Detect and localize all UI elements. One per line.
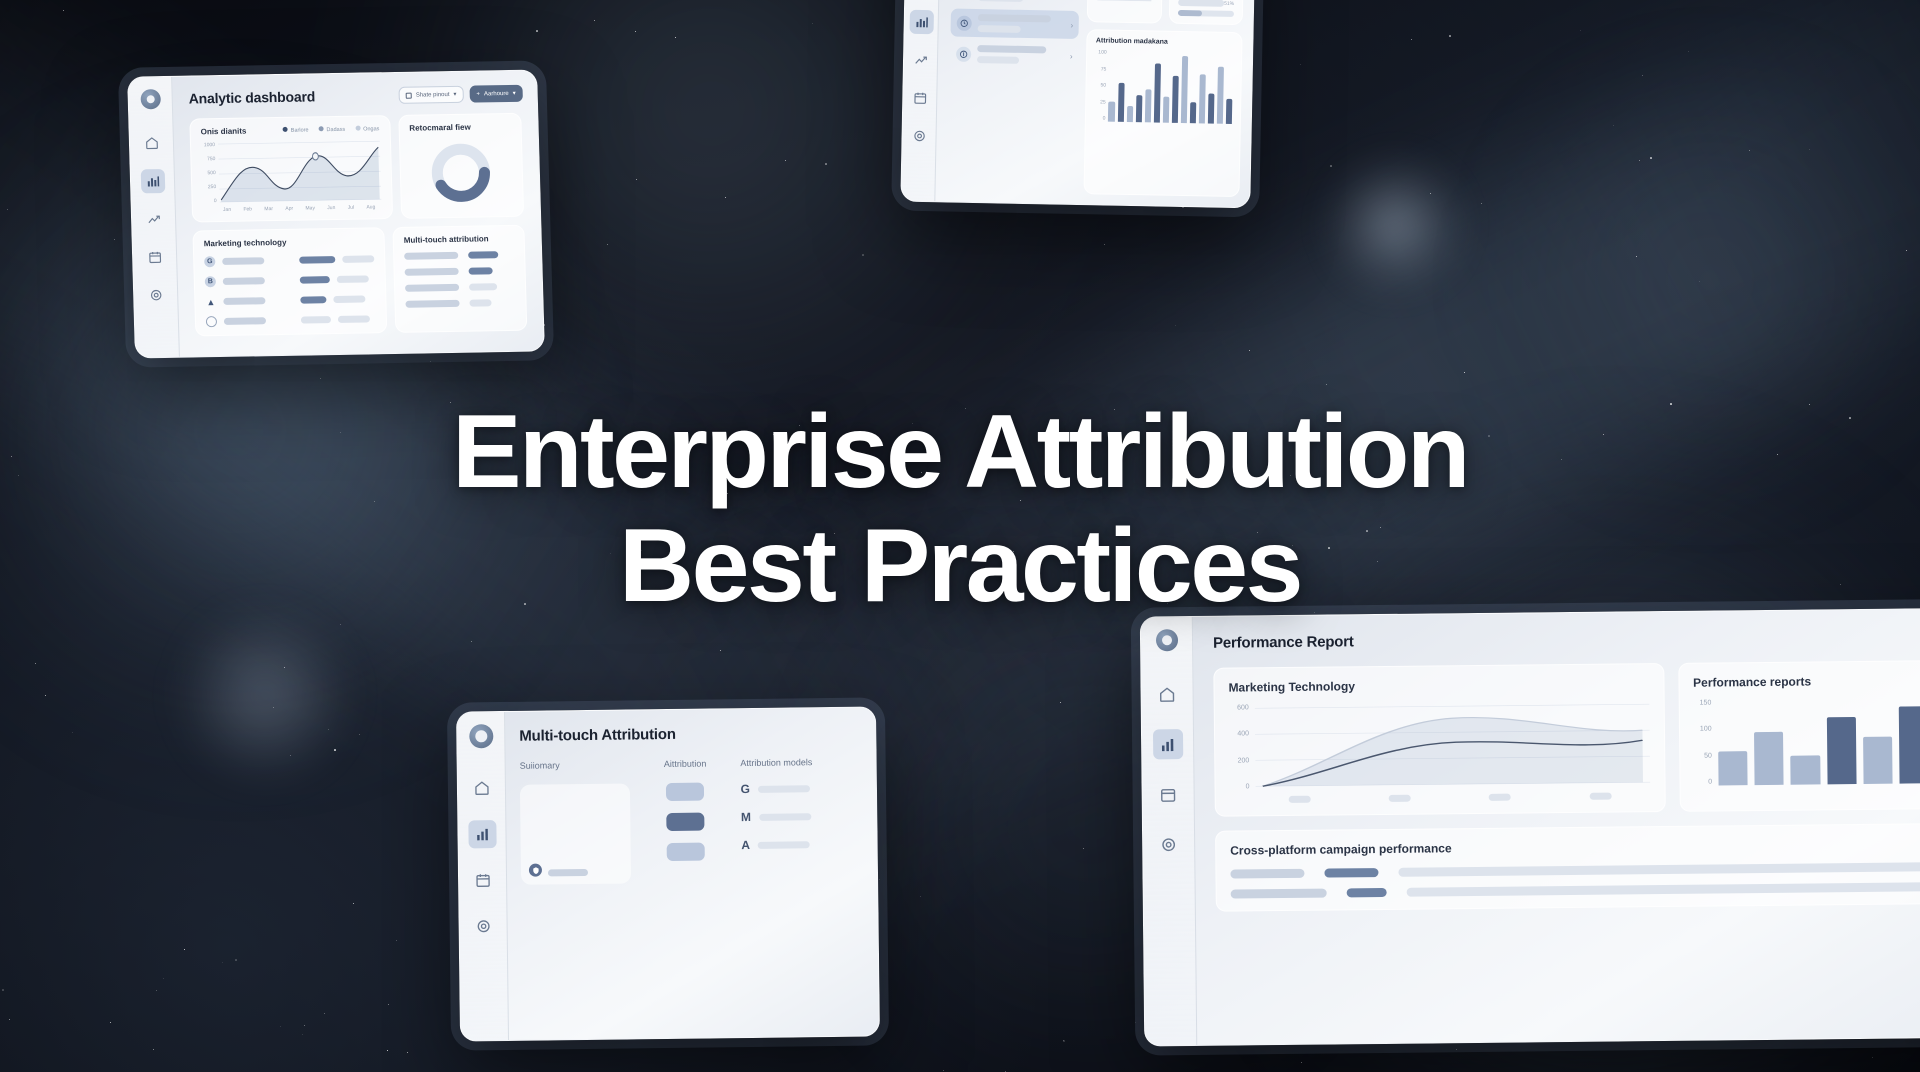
hero-heading: Enterprise Attribution Best Practices	[0, 395, 1920, 624]
gear-icon[interactable]	[469, 912, 497, 940]
add-button-label: Aarhoure	[484, 90, 509, 96]
bar-chart-icon[interactable]	[468, 820, 496, 848]
panel-title: Performance reports	[1693, 673, 1920, 690]
plus-icon: +	[476, 91, 480, 97]
line-chart	[1097, 0, 1154, 1]
bar	[1108, 102, 1114, 122]
google-icon: G	[204, 256, 215, 267]
legend-item: Dadass	[318, 126, 345, 133]
microsoft-icon: M	[741, 810, 751, 824]
list-item[interactable]: ›	[950, 40, 1079, 70]
bar	[1899, 706, 1920, 784]
galaxy-glow	[170, 610, 360, 780]
bar-chart-icon[interactable]	[909, 10, 933, 34]
page-title: Performance Report	[1213, 627, 1920, 652]
adobe-icon: ▲	[205, 296, 216, 307]
panel-title: Marketing Technology	[1228, 676, 1649, 694]
chevron-down-icon: ▾	[513, 90, 516, 97]
adobe-icon: A	[741, 838, 750, 852]
bar	[1153, 64, 1160, 123]
donut-chart	[410, 139, 513, 207]
list-item[interactable]	[404, 251, 514, 260]
summary-column: Suiiomary	[520, 759, 632, 884]
sidebar-rail	[901, 0, 940, 201]
bar	[1163, 96, 1170, 123]
model-list: G M A	[741, 781, 863, 852]
bar-chart	[1717, 697, 1920, 786]
add-button[interactable]: + Aarhoure ▾	[469, 85, 523, 103]
x-axis-labels	[1230, 792, 1651, 803]
sidebar-rail	[457, 712, 509, 1041]
target-icon	[206, 316, 217, 327]
panel-title: Onis dianits	[201, 127, 247, 137]
column-header: Attribution models	[740, 757, 861, 768]
list-item[interactable]: G	[204, 253, 374, 267]
y-axis-labels: 1000 750 500 250 0	[201, 142, 217, 204]
share-button-label: Shate pinout	[416, 92, 450, 99]
list-item[interactable]	[1231, 882, 1920, 899]
node-list	[630, 782, 741, 861]
performance-reports-panel: Performance reports 150 100 50 0	[1678, 660, 1920, 812]
home-icon[interactable]	[467, 774, 495, 802]
bar	[1190, 102, 1196, 124]
brand-logo-icon	[140, 89, 161, 109]
progress-list: 64% 51%	[1178, 0, 1235, 17]
summary-card	[520, 783, 632, 884]
value-label: 51%	[1224, 1, 1234, 7]
area-chart	[1255, 700, 1651, 790]
clock-icon	[957, 15, 972, 30]
hero-line-1: Enterprise Attribution	[0, 395, 1920, 509]
panel-title: Cross-platform campaign performance	[1230, 836, 1920, 858]
trend-up-icon[interactable]	[908, 48, 932, 72]
multi-touch-attribution-mockup: Multi-touch Attribution Suiiomary Aittri…	[456, 706, 880, 1041]
list-item[interactable]: ▲	[205, 293, 375, 307]
list-item[interactable]	[405, 267, 515, 276]
list-item[interactable]	[206, 313, 376, 327]
bar	[1754, 731, 1784, 785]
list-item[interactable]	[405, 283, 515, 292]
models-column: Attribution models G M A	[740, 757, 863, 882]
onis-dianits-panel: Onis dianits Barlore Dadass Ongas 1000 7…	[189, 115, 393, 222]
y-axis-labels: 150 100 50 0	[1693, 700, 1712, 786]
list-item[interactable]: B	[205, 273, 375, 287]
analytic-dashboard-mockup: Analytic dashboard Shate pinout ▾ + Aarh…	[127, 69, 545, 358]
list-item[interactable]: A	[741, 837, 863, 852]
bar	[1144, 89, 1151, 122]
performance-report-mockup: Performance Report Marketing Technology …	[1140, 608, 1920, 1047]
brand-logo-icon	[469, 724, 493, 748]
bar	[1718, 751, 1748, 786]
chevron-right-icon: ›	[1070, 51, 1073, 60]
share-icon	[406, 92, 412, 98]
coin-icon	[956, 46, 971, 61]
bar	[1117, 83, 1124, 122]
attribution-list	[404, 251, 516, 308]
bar	[1863, 736, 1893, 784]
chevron-down-icon: ▾	[453, 91, 456, 98]
multi-touch-attribution-panel: Multi-touch attribution	[392, 225, 527, 333]
marketing-technology-panel: Marketing Technology 600 400 200 0	[1213, 663, 1665, 817]
progress-bar	[1178, 10, 1234, 17]
share-button[interactable]: Shate pinout ▾	[399, 86, 464, 104]
gear-icon[interactable]	[907, 124, 931, 148]
bar	[1827, 717, 1857, 784]
performance-mockup: Performance › › ›	[900, 0, 1255, 208]
sidebar-rail	[1141, 617, 1197, 1046]
marketing-technology-panel: Marketing technology G B ▲	[192, 227, 387, 336]
bar-chart	[1108, 50, 1233, 124]
attribution-node[interactable]	[667, 843, 705, 861]
bing-icon: B	[205, 276, 216, 287]
shield-icon	[529, 864, 542, 877]
list-item[interactable]: ›	[950, 9, 1079, 39]
bar	[1135, 95, 1142, 122]
attribution-node[interactable]	[667, 813, 705, 831]
sidebar-rail	[128, 77, 180, 358]
multi-touch-cicles-panel: Multi-touch cicles	[1087, 0, 1163, 24]
bar-chart-icon[interactable]	[140, 169, 165, 193]
calendar-icon[interactable]	[142, 245, 167, 269]
attribution-column: Aittribution	[630, 758, 742, 883]
chevron-right-icon: ›	[1070, 20, 1073, 29]
calendar-icon[interactable]	[908, 86, 932, 110]
trend-up-icon[interactable]	[141, 207, 166, 231]
y-axis-labels: 100 75 50 25 0	[1094, 50, 1106, 122]
cross-platform-panel: Cross-platform campaign performance	[1215, 823, 1920, 912]
column-header: Suiiomary	[520, 759, 630, 770]
retocmaral-fiew-panel: Retocmaral fiew	[398, 113, 524, 219]
calendar-icon[interactable]	[1153, 779, 1183, 809]
progress-row: 51%	[1178, 0, 1234, 7]
google-icon: G	[741, 782, 751, 796]
dashboard-toolbar: Shate pinout ▾ + Aarhoure ▾	[399, 85, 523, 104]
list-item[interactable]: G	[741, 781, 863, 796]
performance-list: › › › ›	[950, 0, 1081, 70]
legend-item: Barlore	[283, 126, 309, 133]
bar	[1226, 99, 1233, 124]
cross-platform-panel: Cross-platform campaign performance 64% …	[1168, 0, 1244, 25]
hero-line-2: Best Practices	[0, 509, 1920, 623]
page-title: Multi-touch Attribution	[519, 724, 861, 745]
gear-icon[interactable]	[1154, 829, 1184, 859]
panel-title: Marketing technology	[204, 236, 374, 248]
panel-title: Attribution madakana	[1096, 38, 1234, 48]
panel-title: Multi-touch attribution	[404, 234, 514, 245]
bar-chart-icon[interactable]	[1152, 729, 1182, 759]
y-axis-labels: 600 400 200 0	[1229, 704, 1250, 790]
bar	[1791, 755, 1821, 785]
home-icon[interactable]	[1152, 679, 1182, 709]
list-item[interactable]: M	[741, 809, 863, 824]
bar	[1208, 94, 1215, 124]
bar	[1217, 66, 1224, 124]
home-icon[interactable]	[139, 131, 164, 155]
panel-title: Retocmaral fiew	[409, 122, 511, 133]
brand-logo-icon	[1155, 629, 1177, 651]
galaxy-glow	[1320, 150, 1470, 300]
bar	[1181, 56, 1188, 124]
list-item[interactable]	[405, 299, 515, 308]
attribution-node[interactable]	[666, 783, 704, 801]
legend-item: Ongas	[355, 125, 379, 132]
bar	[1126, 106, 1132, 122]
cross-platform-list	[1230, 862, 1920, 899]
line-chart	[218, 139, 381, 204]
chart-legend: Barlore Dadass Ongas	[283, 125, 380, 134]
x-axis-labels: Jan Feb Mar Apr May Jun Jul Aug	[203, 204, 382, 213]
list-item[interactable]	[1230, 862, 1920, 879]
column-header: Aittribution	[630, 758, 740, 769]
calendar-icon[interactable]	[468, 866, 496, 894]
gear-icon[interactable]	[143, 283, 168, 307]
tech-list: G B ▲	[204, 253, 376, 327]
bar	[1172, 76, 1179, 124]
bar	[1199, 75, 1206, 124]
list-item[interactable]: ›	[951, 0, 1080, 8]
attribution-madakana-panel: Attribution madakana 100 75 50 25 0	[1084, 29, 1243, 197]
